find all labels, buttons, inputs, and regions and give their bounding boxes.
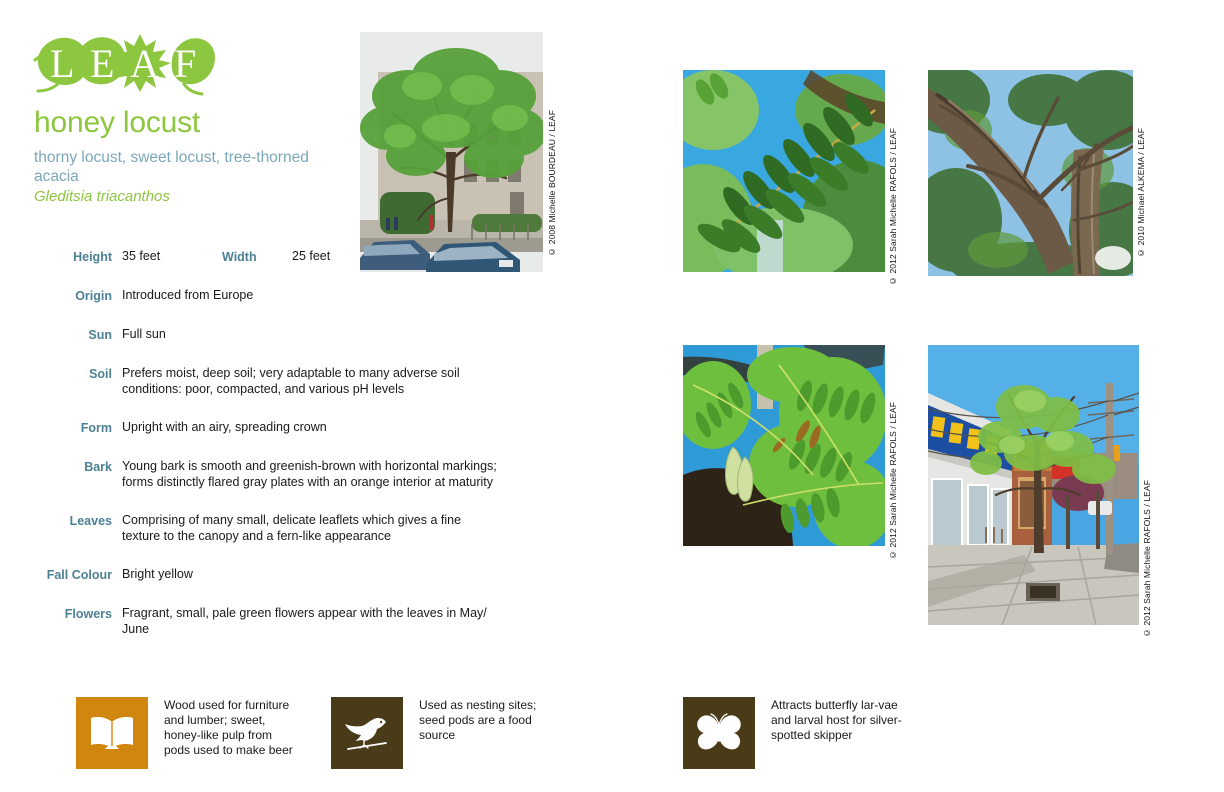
open-book-icon xyxy=(76,697,148,769)
attr-row-sun: Sun Full sun xyxy=(0,326,530,343)
attr-value-leaves: Comprising of many small, delicate leafl… xyxy=(122,512,502,544)
attr-row-leaves: Leaves Comprising of many small, delicat… xyxy=(0,512,530,544)
photo-credit-compound-leaf-closeup: © 2012 Sarah Michelle RAFOLS / LEAF xyxy=(888,128,898,286)
attr-row-form: Form Upright with an airy, spreading cro… xyxy=(0,419,530,436)
attr-value-form: Upright with an airy, spreading crown xyxy=(122,419,327,435)
logo-letter-f: F xyxy=(174,41,196,86)
photo-compound-leaf-closeup-image xyxy=(683,70,885,272)
attr-value-height: 35 feet xyxy=(122,248,222,264)
photo-seed-pod-foliage[interactable] xyxy=(683,345,885,546)
attr-value-sun: Full sun xyxy=(122,326,166,342)
attr-row-bark: Bark Young bark is smooth and greenish-b… xyxy=(0,458,530,490)
photo-street-tree-full-view-image xyxy=(360,32,543,272)
title-block: honey locust thorny locust, sweet locust… xyxy=(34,106,334,206)
attr-label-height: Height xyxy=(0,248,112,265)
attr-row-soil: Soil Prefers moist, deep soil; very adap… xyxy=(0,365,530,397)
attr-label-flowers: Flowers xyxy=(0,605,112,622)
leaf-logo-icon: L E A F xyxy=(32,30,218,96)
attr-label-bark: Bark xyxy=(0,458,112,475)
attr-label-sun: Sun xyxy=(0,326,112,343)
photo-young-boulevard-tree[interactable] xyxy=(928,345,1139,625)
attr-value-origin: Introduced from Europe xyxy=(122,287,253,303)
tree-fact-sheet-page: L E A F honey locust thorny locust, swee… xyxy=(0,0,1224,792)
attributes-table: Height 35 feet Width 25 feet Origin Intr… xyxy=(0,248,530,659)
photo-credit-street-tree-full-view: © 2008 Michelle BOURDEAU / LEAF xyxy=(547,110,557,257)
attr-label-soil: Soil xyxy=(0,365,112,382)
attr-value-width: 25 feet xyxy=(292,248,330,264)
logo-letter-e: E xyxy=(90,41,114,86)
photo-compound-leaf-closeup[interactable] xyxy=(683,70,885,272)
photo-street-tree-full-view[interactable] xyxy=(360,32,543,272)
photo-mature-bark-branches[interactable] xyxy=(928,70,1133,276)
photo-mature-bark-branches-image xyxy=(928,70,1133,276)
benefit-wood-products: Wood used for furniture and lumber; swee… xyxy=(76,697,296,769)
photo-credit-young-boulevard-tree: © 2012 Sarah Michelle RAFOLS / LEAF xyxy=(1142,480,1152,638)
leaf-logo[interactable]: L E A F xyxy=(32,30,218,96)
photo-seed-pod-foliage-image xyxy=(683,345,885,546)
attr-row-origin: Origin Introduced from Europe xyxy=(0,287,530,304)
attr-value-soil: Prefers moist, deep soil; very adaptable… xyxy=(122,365,502,397)
attr-value-fall-colour: Bright yellow xyxy=(122,566,193,582)
attr-label-width: Width xyxy=(222,248,282,265)
benefit-text-butterfly-host: Attracts butterfly lar-vae and larval ho… xyxy=(771,697,903,743)
bird-icon xyxy=(331,697,403,769)
benefit-text-wood-products: Wood used for furniture and lumber; swee… xyxy=(164,697,296,758)
attr-label-origin: Origin xyxy=(0,287,112,304)
alternate-names: thorny locust, sweet locust, tree-thorne… xyxy=(34,148,334,186)
benefit-butterfly-host: Attracts butterfly lar-vae and larval ho… xyxy=(683,697,903,769)
attr-row-flowers: Flowers Fragrant, small, pale green flow… xyxy=(0,605,530,637)
attr-label-form: Form xyxy=(0,419,112,436)
benefit-text-bird-habitat: Used as nesting sites; seed pods are a f… xyxy=(419,697,551,743)
attr-value-bark: Young bark is smooth and greenish-brown … xyxy=(122,458,502,490)
logo-letter-a: A xyxy=(130,41,159,86)
attr-value-flowers: Fragrant, small, pale green flowers appe… xyxy=(122,605,502,637)
photo-credit-seed-pod-foliage: © 2012 Sarah Michelle RAFOLS / LEAF xyxy=(888,402,898,560)
attr-label-fall-colour: Fall Colour xyxy=(0,566,112,583)
butterfly-icon xyxy=(683,697,755,769)
benefit-bird-habitat: Used as nesting sites; seed pods are a f… xyxy=(331,697,551,769)
photo-credit-mature-bark-branches: © 2010 Michael ALKEMA / LEAF xyxy=(1136,128,1146,258)
page-title: honey locust xyxy=(34,106,334,140)
attr-label-leaves: Leaves xyxy=(0,512,112,529)
scientific-name: Gleditsia triacanthos xyxy=(34,187,334,206)
photo-young-boulevard-tree-image xyxy=(928,345,1139,625)
logo-letter-l: L xyxy=(50,41,74,86)
attr-row-fall-colour: Fall Colour Bright yellow xyxy=(0,566,530,583)
